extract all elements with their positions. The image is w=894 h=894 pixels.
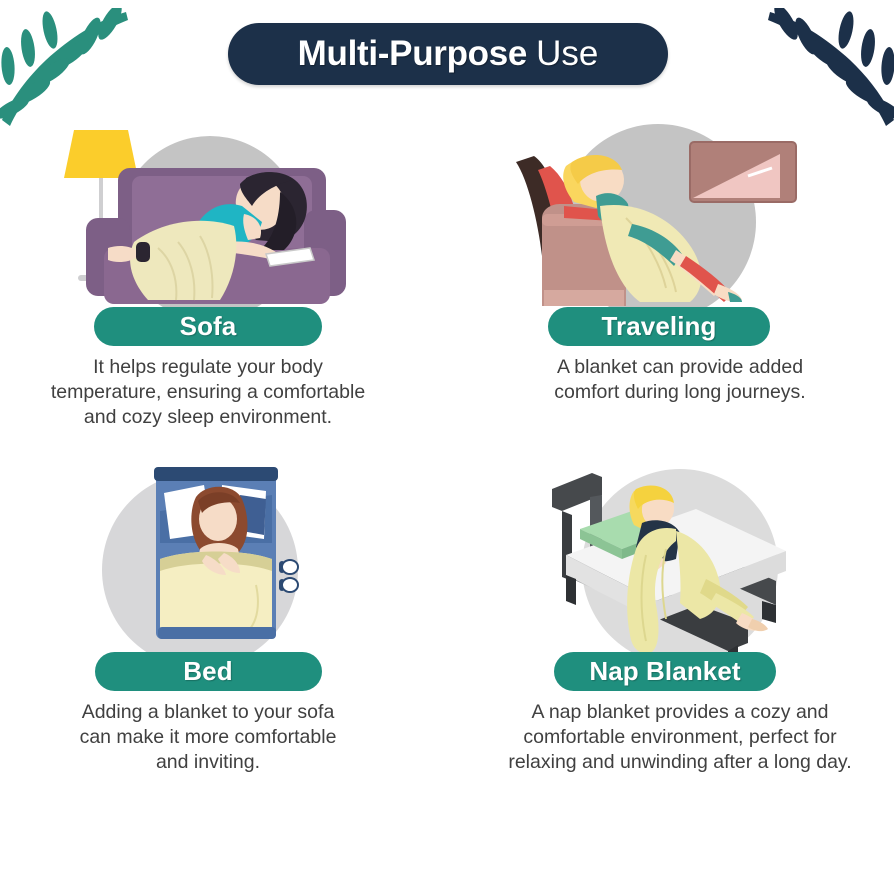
page-title-light: Use <box>536 34 598 74</box>
card-label-text: Bed <box>183 656 232 687</box>
card-label-nap-blanket: Nap Blanket <box>554 652 776 691</box>
card-description-nap-blanket: A nap blanket provides a cozy and comfor… <box>481 700 879 775</box>
card-description-bed: Adding a blanket to your sofa can make i… <box>12 700 404 775</box>
woman-sleeping-in-bed-topdown-illustration <box>8 455 408 660</box>
card-label-sofa: Sofa <box>94 307 322 346</box>
feature-card-nap-blanket: Nap Blanket A nap blanket provides a coz… <box>480 455 880 775</box>
woman-reclining-in-travel-seat-illustration <box>480 110 880 315</box>
woman-reading-on-sofa-illustration <box>8 110 408 315</box>
card-label-text: Sofa <box>180 311 237 342</box>
feature-card-sofa: Sofa It helps regulate your body tempera… <box>8 110 408 430</box>
page-title: Multi-Purpose Use <box>228 23 668 85</box>
person-napping-on-bed-isometric-illustration <box>480 455 880 660</box>
card-label-text: Traveling <box>601 311 716 342</box>
infographic-page: Multi-Purpose Use <box>0 0 894 894</box>
feature-card-bed: Bed Adding a blanket to your sofa can ma… <box>8 455 408 775</box>
feature-card-traveling: Traveling A blanket can provide added co… <box>480 110 880 405</box>
card-label-bed: Bed <box>95 652 322 691</box>
card-label-text: Nap Blanket <box>589 656 740 687</box>
card-description-sofa: It helps regulate your body temperature,… <box>12 355 404 430</box>
card-description-traveling: A blanket can provide added comfort duri… <box>481 355 879 405</box>
page-title-strong: Multi-Purpose <box>298 34 527 74</box>
card-label-traveling: Traveling <box>548 307 770 346</box>
